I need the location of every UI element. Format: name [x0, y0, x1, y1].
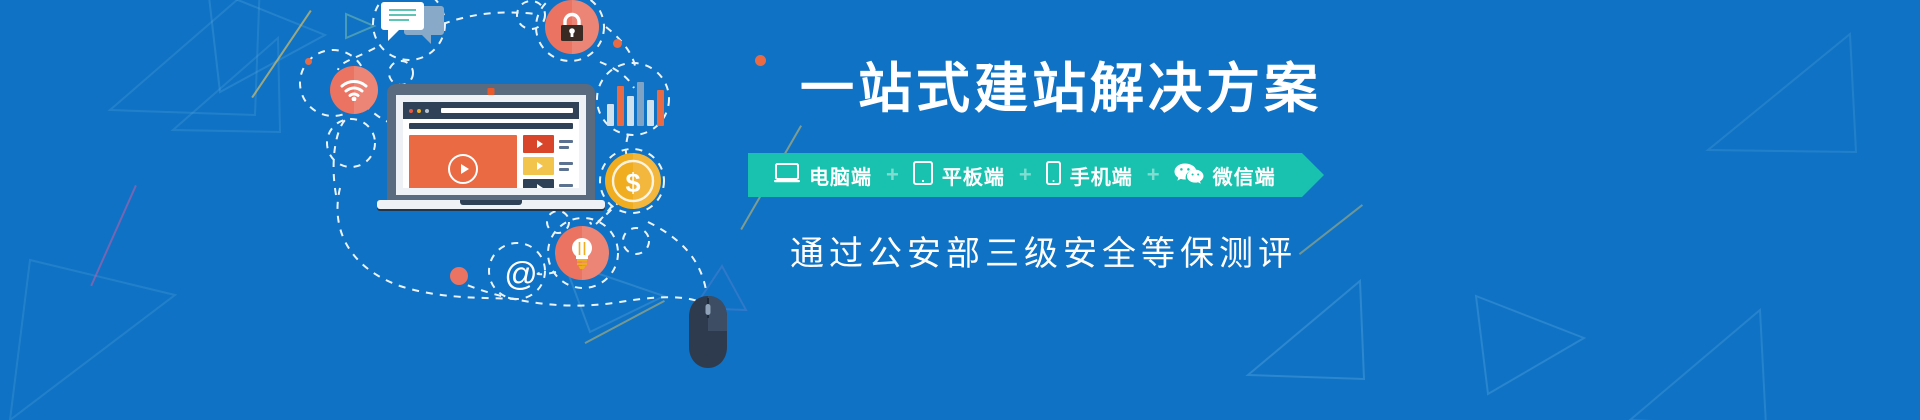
wifi-icon — [330, 66, 378, 114]
bar-chart-icon — [607, 74, 664, 126]
tablet-icon — [913, 161, 933, 190]
thumbnail-row — [523, 179, 573, 188]
laptop-base — [377, 200, 605, 209]
decor-dot-3 — [450, 267, 468, 285]
laptop-trackpad-notch — [460, 200, 522, 205]
chat-bubble-icon — [381, 2, 445, 57]
banner-text-block: 一站式建站解决方案 电脑端 + — [748, 0, 1920, 420]
browser-content — [403, 129, 579, 188]
decor-dot-1 — [613, 39, 622, 48]
decor-dot-4 — [305, 58, 312, 65]
platform-tag-label: 微信端 — [1213, 161, 1276, 190]
platform-tag-label: 电脑端 — [809, 161, 872, 190]
sidebar-thumbnail-list — [523, 135, 573, 188]
browser-dot-red — [409, 109, 413, 113]
at-sign-icon: @ — [500, 252, 542, 294]
thumbnail-row — [523, 135, 573, 153]
decor-triangle-3 — [200, 0, 330, 100]
mouse-icon — [686, 294, 730, 375]
tag-separator: + — [1143, 164, 1164, 186]
video-thumbnail — [523, 179, 554, 188]
platform-tag-desktop[interactable]: 电脑端 — [764, 161, 882, 190]
svg-text:@: @ — [504, 255, 538, 292]
coin-dollar-icon: $ — [605, 153, 661, 209]
browser-dot-gray — [425, 109, 429, 113]
smartphone-icon — [1046, 161, 1061, 190]
video-thumbnail — [523, 135, 554, 153]
banner-subline: 通过公安部三级安全等保测评 — [790, 232, 1297, 276]
laptop-mockup — [383, 84, 599, 214]
lock-icon — [545, 0, 599, 54]
svg-text:$: $ — [625, 168, 640, 198]
promo-banner: $ @ — [0, 0, 1920, 420]
platform-tag-wechat[interactable]: 微信端 — [1164, 161, 1286, 190]
laptop-camera-dot — [488, 88, 495, 95]
platform-tag-label: 手机端 — [1070, 161, 1133, 190]
tag-separator: + — [882, 164, 903, 186]
platform-tag-bar: 电脑端 + 平板端 + — [748, 153, 1302, 197]
thumbnail-row — [523, 157, 573, 175]
platform-tag-label: 平板端 — [942, 161, 1005, 190]
browser-address-bar — [441, 108, 573, 113]
hero-video-block — [409, 135, 517, 188]
laptop-icon — [774, 163, 800, 188]
video-thumbnail — [523, 157, 554, 175]
lightbulb-icon — [555, 226, 609, 280]
wechat-icon — [1174, 162, 1204, 189]
browser-dot-yellow — [417, 109, 421, 113]
banner-headline: 一站式建站解决方案 — [800, 58, 1322, 120]
laptop-screen — [396, 95, 586, 195]
browser-window — [403, 102, 579, 188]
platform-tag-tablet[interactable]: 平板端 — [903, 161, 1015, 190]
browser-titlebar — [403, 102, 579, 119]
tag-separator: + — [1015, 164, 1036, 186]
decor-triangle-5 — [340, 8, 380, 44]
play-button-icon — [448, 154, 478, 184]
platform-tag-mobile[interactable]: 手机端 — [1036, 161, 1143, 190]
